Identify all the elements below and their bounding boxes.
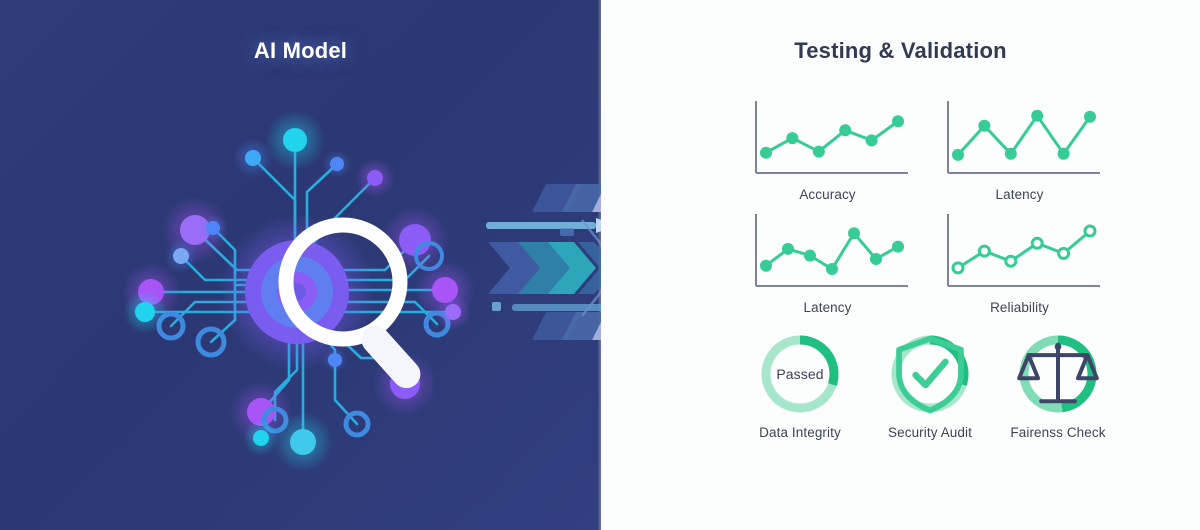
badge-center: [1016, 332, 1100, 416]
accuracy-line-chart: [740, 95, 915, 183]
balance-scales-icon: [1016, 332, 1100, 416]
badge-data-integrity[interactable]: Passed Data Integrity: [735, 332, 865, 440]
badge-center: [888, 332, 972, 416]
chart-card-reliability[interactable]: Reliability: [932, 208, 1107, 323]
chart-card-latency-bottom[interactable]: Latency: [740, 208, 915, 323]
chart-label: Latency: [740, 300, 915, 315]
badge-status-text: Passed: [776, 366, 823, 382]
neural-network-graphic: [85, 80, 505, 470]
shield-check-icon: [888, 332, 972, 416]
badge-label: Data Integrity: [735, 425, 865, 440]
progress-ring: [1016, 332, 1100, 416]
badge-fairness-check[interactable]: Fairenss Check: [993, 332, 1123, 440]
progress-ring: [888, 332, 972, 416]
metrics-chart-grid: Accuracy Latency Latency: [740, 95, 1120, 325]
badge-label: Security Audit: [865, 425, 995, 440]
chart-card-latency-top[interactable]: Latency: [932, 95, 1107, 210]
right-panel-title: Testing & Validation: [601, 38, 1200, 64]
left-panel-title: AI Model: [0, 38, 601, 64]
latency-line-chart: [932, 95, 1107, 183]
chart-card-accuracy[interactable]: Accuracy: [740, 95, 915, 210]
infographic-canvas: AI Model: [0, 0, 1200, 530]
latency-line-chart-2: [740, 208, 915, 296]
chart-label: Latency: [932, 187, 1107, 202]
reliability-line-chart: [932, 208, 1107, 296]
badge-security-audit[interactable]: Security Audit: [865, 332, 995, 440]
chart-label: Reliability: [932, 300, 1107, 315]
badge-center: Passed: [758, 332, 842, 416]
badge-label: Fairenss Check: [993, 425, 1123, 440]
progress-ring: Passed: [758, 332, 842, 416]
chart-label: Accuracy: [740, 187, 915, 202]
validation-badges: Passed Data Integrity Security Audit: [735, 332, 1125, 457]
